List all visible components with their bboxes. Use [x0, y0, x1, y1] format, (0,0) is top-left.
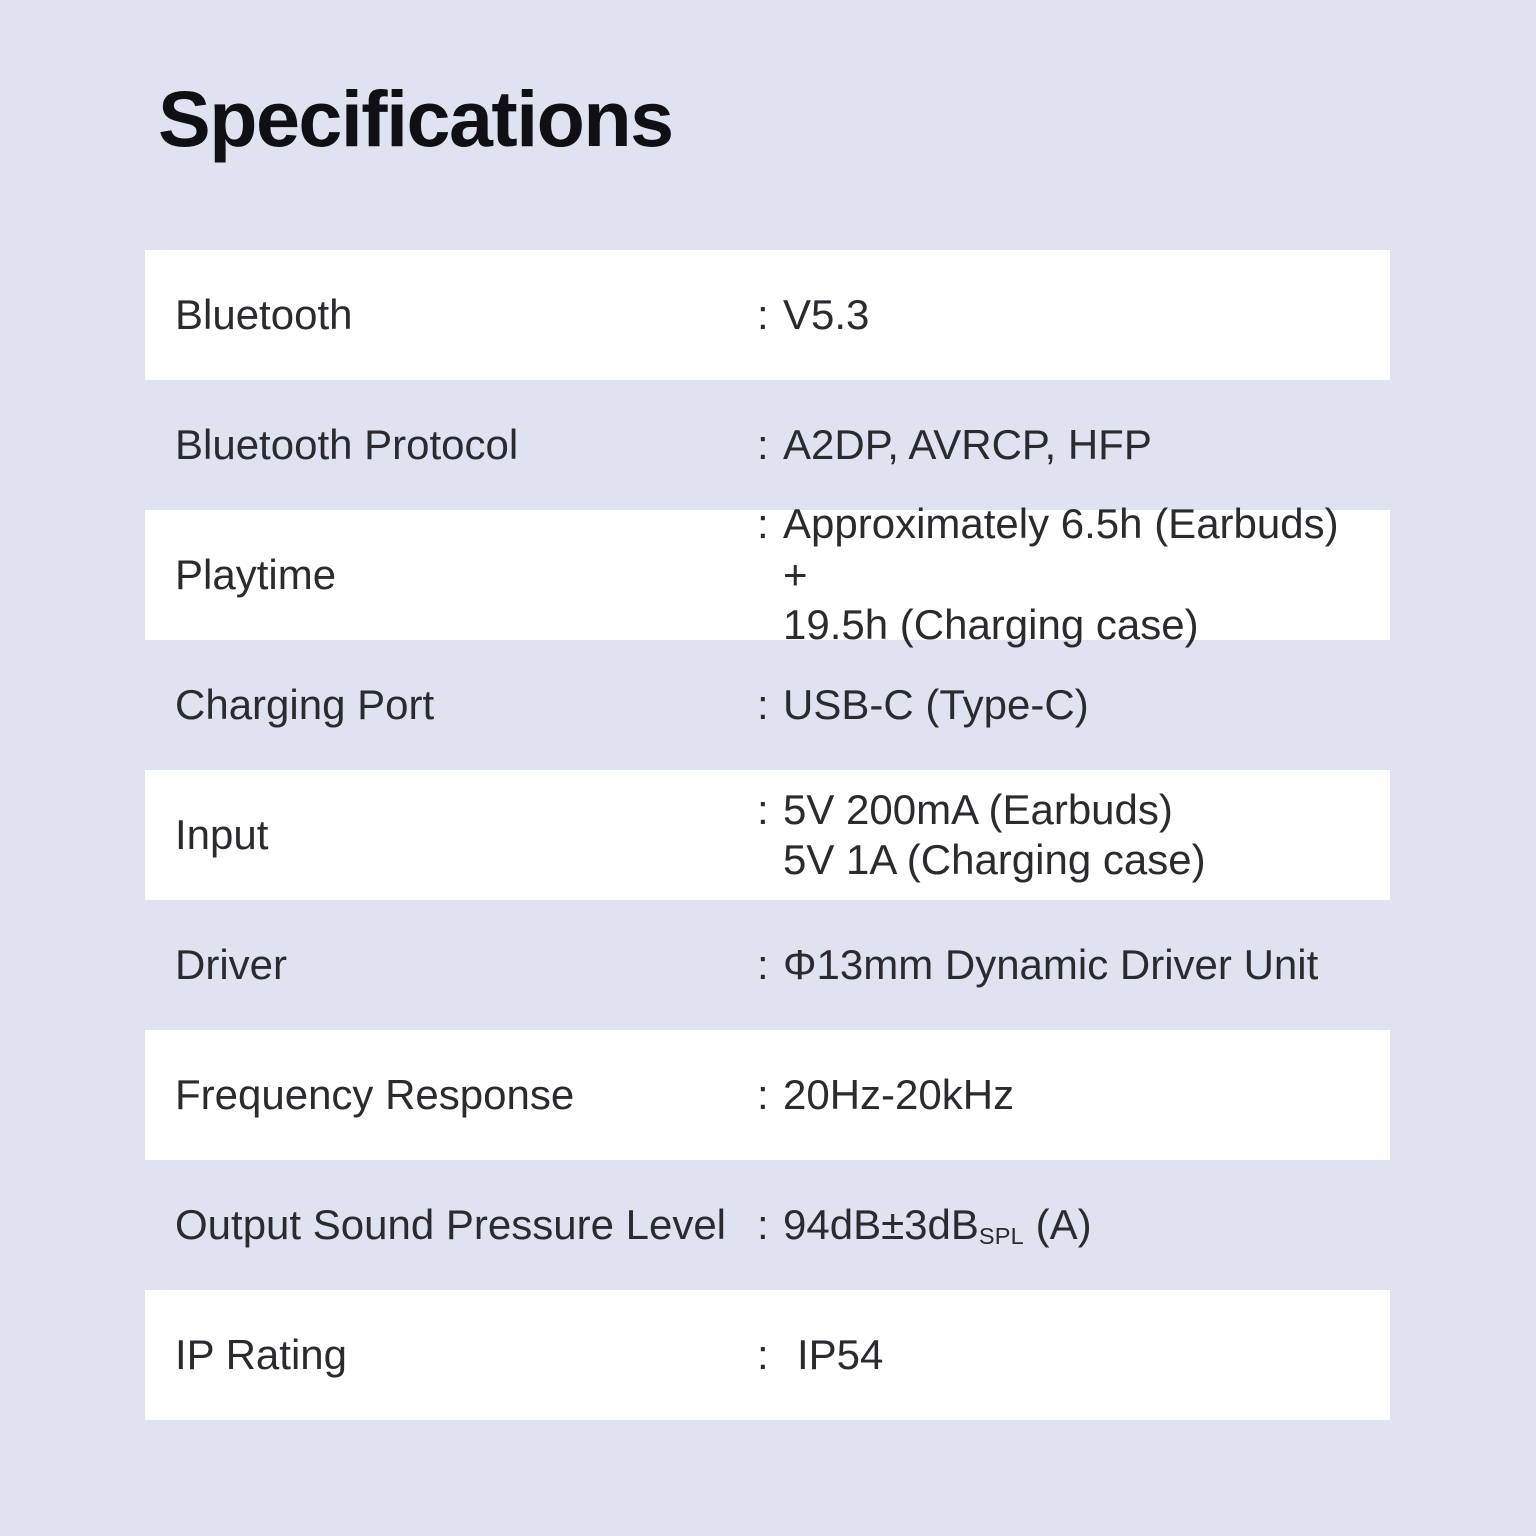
spec-separator: : [757, 1070, 783, 1120]
spec-value: USB-C (Type-C) [783, 680, 1370, 730]
spec-value-subscript: SPL [979, 1223, 1024, 1249]
spec-separator: : [757, 499, 783, 549]
spec-row: Charging Port:USB-C (Type-C) [145, 640, 1390, 770]
spec-separator: : [757, 680, 783, 730]
spec-label: Charging Port [175, 681, 757, 729]
spec-row: Output Sound Pressure Level:94dB±3dBSPL … [145, 1160, 1390, 1290]
spec-value-group: :IP54 [757, 1330, 1370, 1380]
spec-row: Input:5V 200mA (Earbuds) 5V 1A (Charging… [145, 770, 1390, 900]
spec-value: V5.3 [783, 290, 1370, 340]
spec-value: 5V 200mA (Earbuds) 5V 1A (Charging case) [783, 785, 1370, 886]
spec-row: Playtime:Approximately 6.5h (Earbuds) + … [145, 510, 1390, 640]
spec-label: Frequency Response [175, 1071, 757, 1119]
spec-separator: : [757, 1330, 783, 1380]
spec-label: Bluetooth [175, 291, 757, 339]
spec-value-group: :5V 200mA (Earbuds) 5V 1A (Charging case… [757, 785, 1370, 886]
spec-separator: : [757, 290, 783, 340]
spec-value: Approximately 6.5h (Earbuds) + 19.5h (Ch… [783, 499, 1370, 650]
spec-value-group: :Φ13mm Dynamic Driver Unit [757, 940, 1370, 990]
specifications-page: Specifications Bluetooth:V5.3Bluetooth P… [0, 0, 1536, 1536]
spec-separator: : [757, 1200, 783, 1250]
spec-value-group: :USB-C (Type-C) [757, 680, 1370, 730]
spec-separator: : [757, 785, 783, 835]
specifications-table: Bluetooth:V5.3Bluetooth Protocol:A2DP, A… [145, 250, 1390, 1420]
spec-separator: : [757, 940, 783, 990]
spec-row: Bluetooth Protocol:A2DP, AVRCP, HFP [145, 380, 1390, 510]
spec-label: Output Sound Pressure Level [175, 1201, 757, 1249]
spec-label: IP Rating [175, 1331, 757, 1379]
spec-value-group: :V5.3 [757, 290, 1370, 340]
spec-value-group: :Approximately 6.5h (Earbuds) + 19.5h (C… [757, 499, 1370, 650]
spec-label: Driver [175, 941, 757, 989]
page-title: Specifications [158, 78, 673, 161]
spec-label: Playtime [175, 551, 757, 599]
spec-row: Driver:Φ13mm Dynamic Driver Unit [145, 900, 1390, 1030]
spec-value-group: :A2DP, AVRCP, HFP [757, 420, 1370, 470]
spec-value: A2DP, AVRCP, HFP [783, 420, 1370, 470]
spec-value-group: :94dB±3dBSPL (A) [757, 1200, 1370, 1250]
spec-value: Φ13mm Dynamic Driver Unit [783, 940, 1370, 990]
spec-value-group: :20Hz-20kHz [757, 1070, 1370, 1120]
spec-row: Bluetooth:V5.3 [145, 250, 1390, 380]
spec-label: Bluetooth Protocol [175, 421, 757, 469]
spec-value: IP54 [783, 1330, 1370, 1380]
spec-separator: : [757, 420, 783, 470]
spec-value: 20Hz-20kHz [783, 1070, 1370, 1120]
spec-row: Frequency Response:20Hz-20kHz [145, 1030, 1390, 1160]
spec-label: Input [175, 811, 757, 859]
spec-value: 94dB±3dBSPL (A) [783, 1200, 1370, 1250]
spec-row: IP Rating:IP54 [145, 1290, 1390, 1420]
